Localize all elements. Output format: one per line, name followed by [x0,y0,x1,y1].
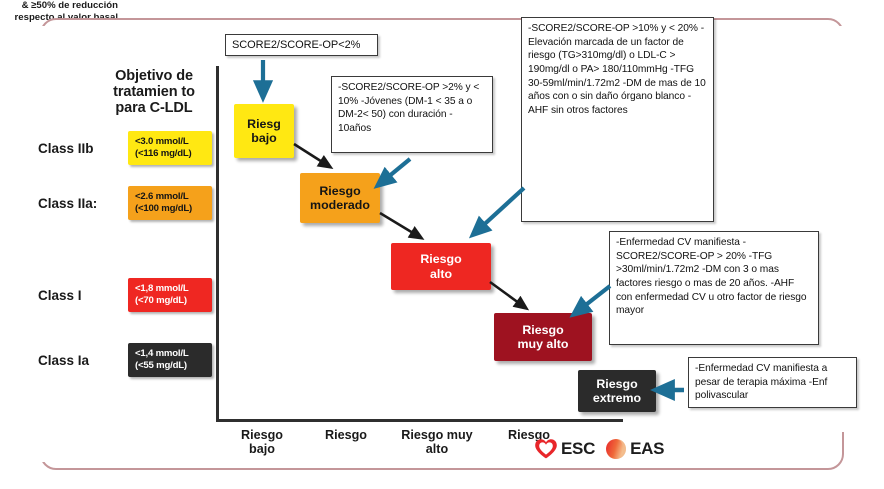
legend-reduction-note: & ≥50% de reducción respecto al valor ba… [0,0,118,25]
flow-node-riesgo-extremo-line1: Riesgo [596,377,637,391]
axis-category-1: Riesgo [306,428,386,442]
flow-node-riesgo-moderado: Riesgo moderado [300,173,380,223]
legend-value-iib-line2: (<116 mg/dL) [135,148,212,160]
arrow-bajo-to-moderado [294,144,327,165]
legend-value-ia-line1: <1,4 mmol/L [135,348,189,359]
flow-node-riesgo-extremo-line2: extremo [593,391,641,405]
flow-node-riesgo-moderado-line2: moderado [310,198,370,212]
axis-category-1-line1: Riesgo [325,428,367,442]
flow-node-riesgo-extremo: Riesgo extremo [578,370,656,412]
legend-title: Objetivo de tratamien to para C-LDL [98,68,210,117]
flow-node-riesgo-bajo-line2: bajo [251,131,276,145]
society-logos: ESC EAS [534,438,664,460]
arrow-moderado-to-alto [380,213,418,236]
axis-category-0-line2: bajo [249,442,275,456]
legend-value-i-line1: <1,8 mmol/L [135,283,189,294]
axis-category-0: Riesgo bajo [222,428,302,457]
legend-swatch-iia: <2.6 mmol/L (<100 mg/dL) [128,186,212,220]
arrow-very-high-criteria [578,286,610,311]
legend-value-iia-line1: <2.6 mmol/L [135,191,189,202]
arrow-high-criteria [477,188,524,231]
arrow-alto-to-muy-alto [490,282,523,306]
legend-value-i-line2: (<70 mg/dL) [135,295,212,307]
flow-node-riesgo-bajo-line1: Riesg [247,117,281,131]
legend-swatch-i: <1,8 mmol/L (<70 mg/dL) [128,278,212,312]
circle-gradient-icon [605,438,627,460]
legend-class-label-i: Class I [38,288,82,303]
criteria-box-extreme: -Enfermedad CV manifiesta a pesar de ter… [688,357,857,408]
logo-esc-label: ESC [561,439,595,459]
legend-value-iib-line1: <3.0 mmol/L [135,136,189,147]
flow-node-riesgo-muy-alto: Riesgo muy alto [494,313,592,361]
axis-vertical [216,66,219,422]
flow-node-riesgo-alto-line2: alto [430,267,452,281]
flow-node-riesgo-alto: Riesgo alto [391,243,491,290]
legend-value-ia-line2: (<55 mg/dL) [135,360,212,372]
legend-swatch-iib: <3.0 mmol/L (<116 mg/dL) [128,131,212,165]
legend-class-label-iia: Class IIa: [38,196,97,211]
legend-value-iia-line2: (<100 mg/dL) [135,203,212,215]
logo-esc: ESC [534,438,595,460]
frame-mask-left [30,26,52,462]
logo-eas-label: EAS [630,439,664,459]
heart-icon [534,438,558,460]
legend-swatch-ia: <1,4 mmol/L (<55 mg/dL) [128,343,212,377]
axis-category-2-line2: alto [426,442,448,456]
flow-node-riesgo-bajo: Riesg bajo [234,104,294,158]
arrow-moderate-criteria [382,159,410,182]
axis-category-2-line1: Riesgo muy [401,428,472,442]
flow-node-riesgo-muy-alto-line2: muy alto [518,337,569,351]
criteria-box-low: SCORE2/SCORE-OP<2% [225,34,378,56]
flow-node-riesgo-alto-line1: Riesgo [420,252,461,266]
criteria-box-moderate: -SCORE2/SCORE-OP >2% y < 10% -Jóvenes (D… [331,76,493,153]
axis-category-2: Riesgo muy alto [387,428,487,457]
criteria-box-high: -SCORE2/SCORE-OP >10% y < 20% -Elevación… [521,17,714,222]
legend-class-label-ia: Class Ia [38,353,89,368]
logo-eas: EAS [605,438,664,460]
flow-node-riesgo-muy-alto-line1: Riesgo [522,323,563,337]
axis-category-0-line1: Riesgo [241,428,283,442]
diagram-canvas: Objetivo de tratamien to para C-LDL Clas… [0,0,884,489]
criteria-box-very-high: -Enfermedad CV manifiesta -SCORE2/SCORE-… [609,231,819,345]
axis-horizontal [216,419,623,422]
legend-class-label-iib: Class IIb [38,141,94,156]
flow-node-riesgo-moderado-line1: Riesgo [319,184,360,198]
